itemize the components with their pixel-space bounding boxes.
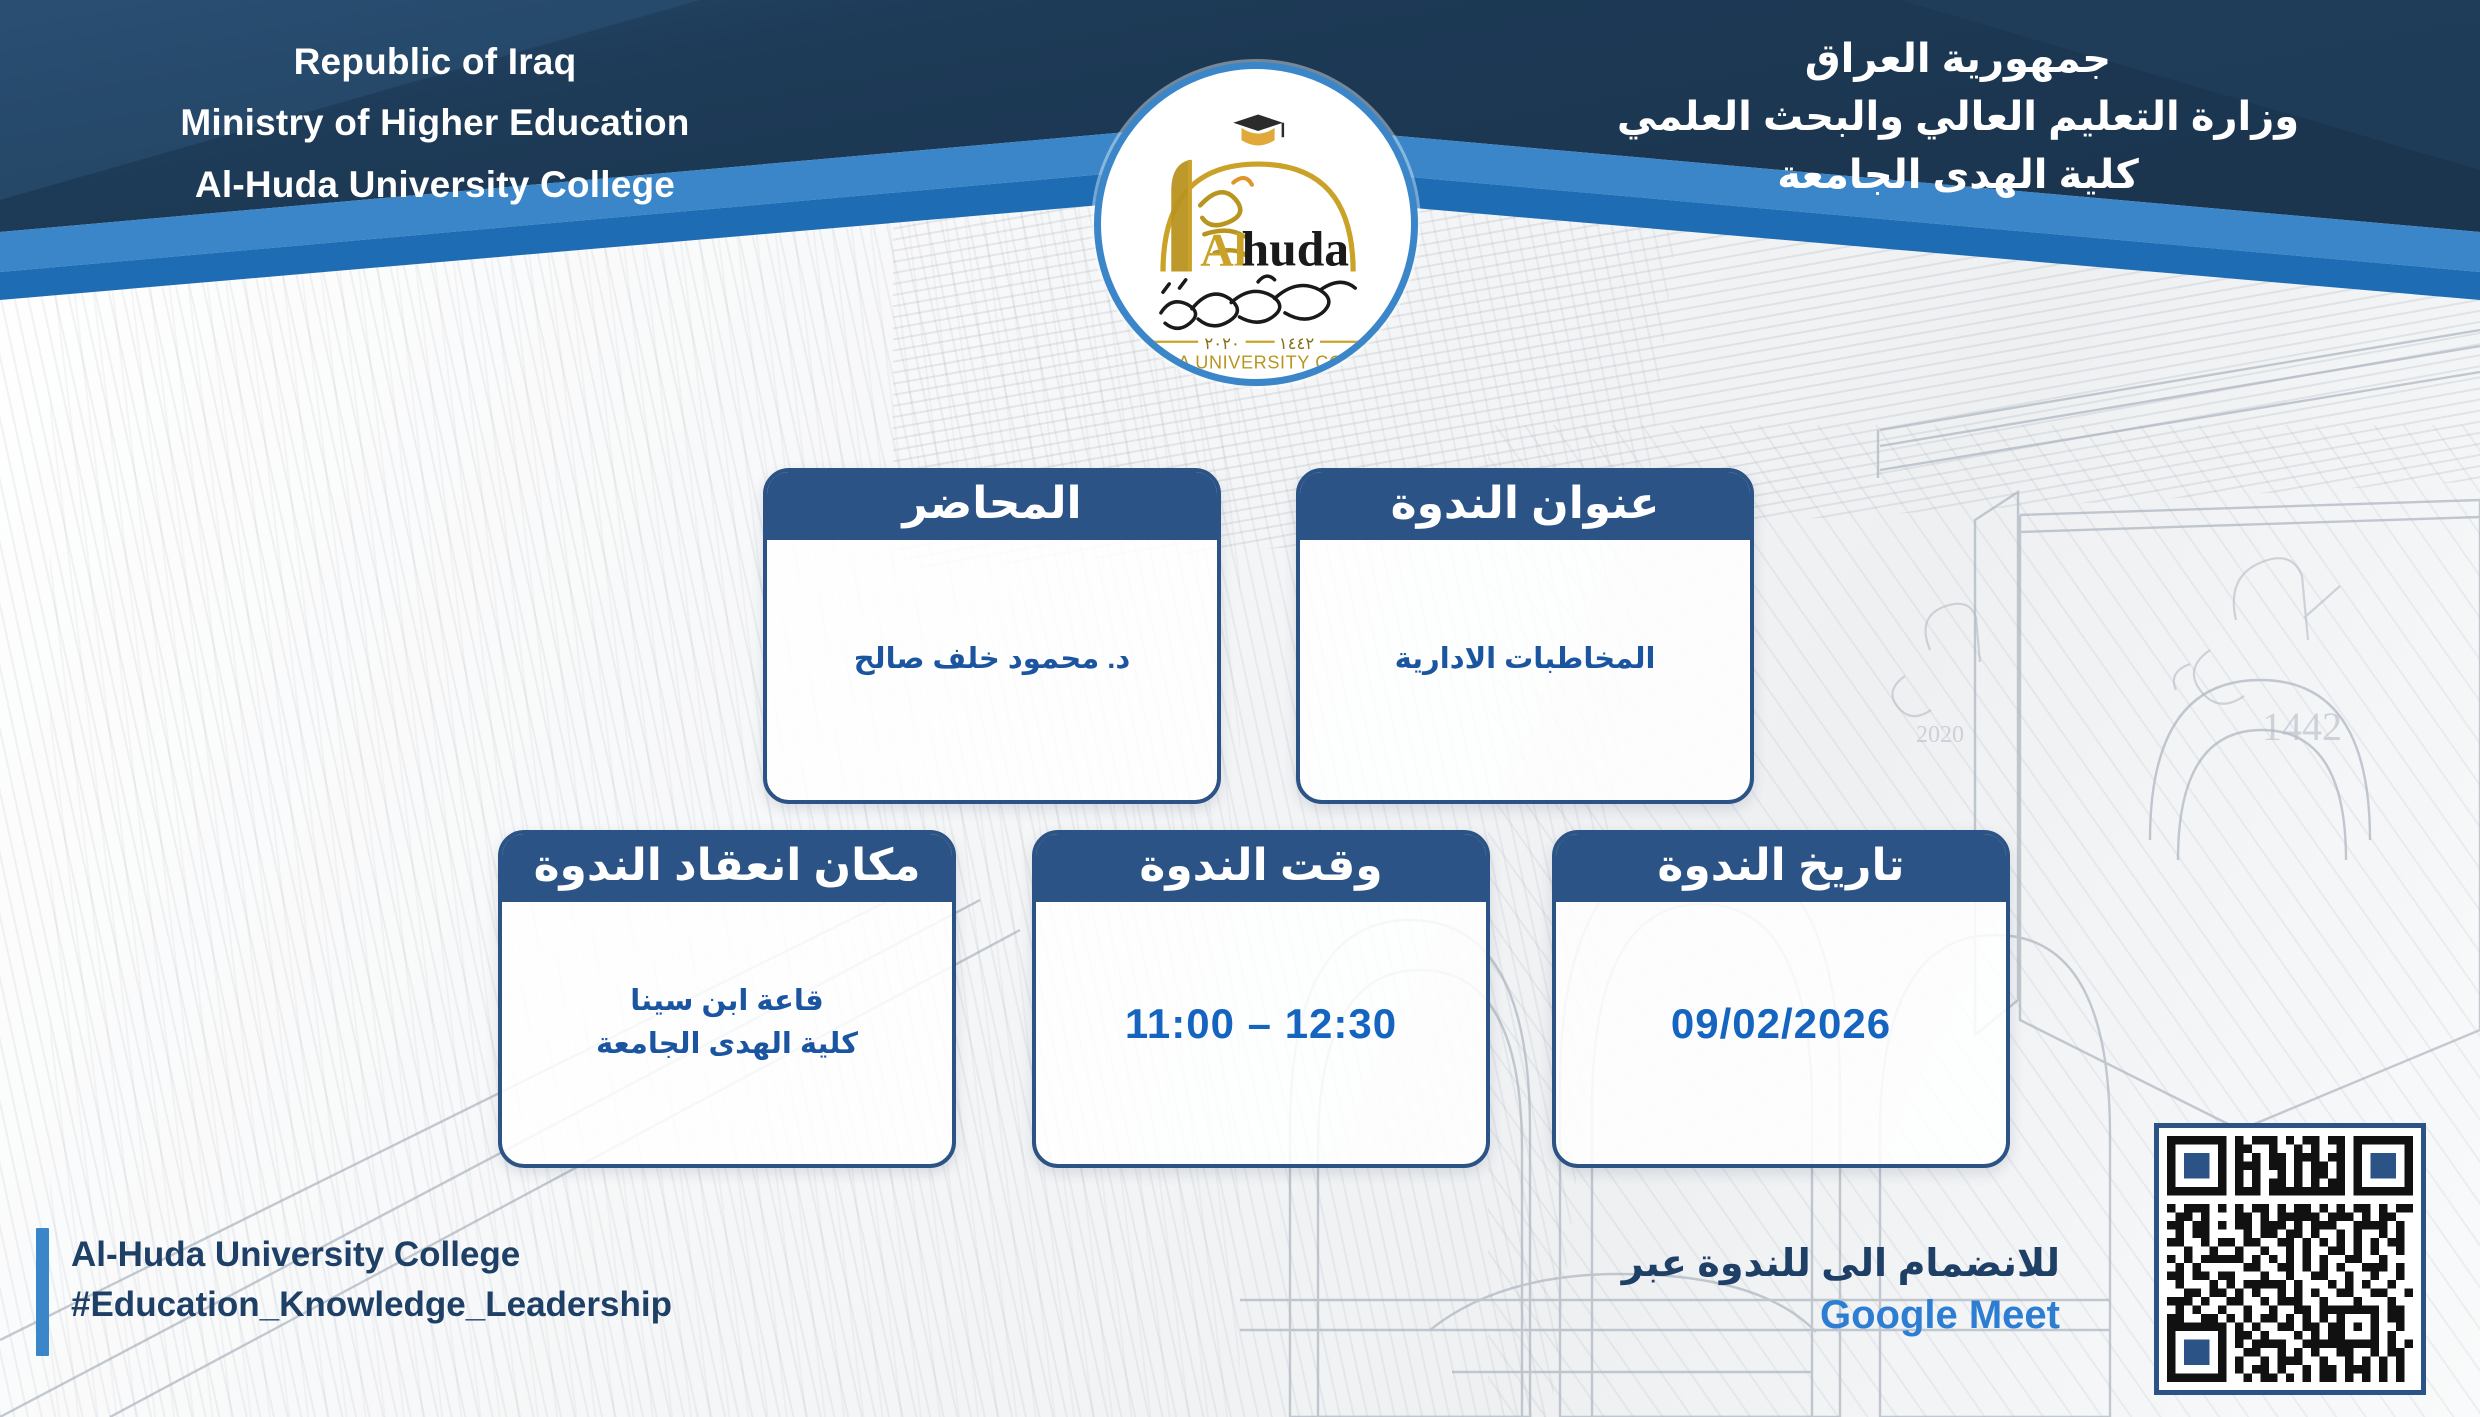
info-card-lecturer-title: المحاضر bbox=[767, 472, 1217, 540]
info-card-time-title: وقت الندوة bbox=[1036, 834, 1486, 902]
logo-wordmark-huda: huda bbox=[1242, 221, 1350, 276]
info-card-date-title: تاريخ الندوة bbox=[1556, 834, 2006, 902]
logo-arabic-calligraphy bbox=[1161, 276, 1355, 328]
info-card-lecturer-value: د. محمود خلف صالح bbox=[767, 540, 1217, 800]
info-card-time: وقت الندوة 11:00 – 12:30 bbox=[1032, 830, 1490, 1168]
logo-dates-row: ٢٠٢٠ ١٤٤٢ bbox=[1146, 334, 1365, 353]
qr-code[interactable] bbox=[2154, 1123, 2426, 1395]
info-card-seminar-title: عنوان الندوة المخاطبات الادارية bbox=[1296, 468, 1754, 804]
info-card-seminar-title-label: عنوان الندوة bbox=[1300, 472, 1750, 540]
info-card-venue-value-line1: قاعة ابن سينا bbox=[630, 985, 823, 1017]
logo-wordmark-al: Al bbox=[1200, 225, 1247, 276]
info-card-venue: مكان انعقاد الندوة قاعة ابن سينا كلية ال… bbox=[498, 830, 956, 1168]
footer-college-name: Al-Huda University College bbox=[71, 1230, 672, 1280]
university-logo: Al huda ٢٠٢٠ ١٤٤٢ AL-HUDA UNIVERSITY COL bbox=[1094, 62, 1418, 386]
footer-accent-bar bbox=[36, 1228, 49, 1356]
join-arabic-text: للانضمام الى للندوة عبر bbox=[1622, 1243, 2060, 1287]
info-card-venue-value: قاعة ابن سينا كلية الهدى الجامعة bbox=[502, 902, 952, 1164]
footer-hashtag: #Education_Knowledge_Leadership bbox=[71, 1280, 672, 1330]
logo-year-gregorian: ٢٠٢٠ bbox=[1204, 334, 1239, 353]
info-card-date: تاريخ الندوة 09/02/2026 bbox=[1552, 830, 2010, 1168]
join-platform-label: Google Meet bbox=[1622, 1293, 2060, 1338]
info-card-time-value: 11:00 – 12:30 bbox=[1036, 902, 1486, 1164]
info-card-seminar-title-value: المخاطبات الادارية bbox=[1300, 540, 1750, 800]
svg-text:2020: 2020 bbox=[1916, 722, 1964, 748]
footer-text-block: Al-Huda University College #Education_Kn… bbox=[71, 1228, 672, 1356]
svg-text:1442: 1442 bbox=[2262, 704, 2342, 749]
graduation-cap-icon bbox=[1233, 114, 1283, 145]
info-card-venue-value-line2: كلية الهدى الجامعة bbox=[596, 1028, 858, 1060]
footer-branding: Al-Huda University College #Education_Kn… bbox=[36, 1228, 672, 1356]
info-card-lecturer: المحاضر د. محمود خلف صالح bbox=[763, 468, 1221, 804]
poster-root: 1442 2020 bbox=[0, 0, 2480, 1417]
info-card-date-value: 09/02/2026 bbox=[1556, 902, 2006, 1164]
logo-year-hijri: ١٤٤٢ bbox=[1279, 334, 1315, 353]
info-card-venue-title: مكان انعقاد الندوة bbox=[502, 834, 952, 902]
qr-code-matrix[interactable] bbox=[2167, 1136, 2413, 1382]
join-instructions: للانضمام الى للندوة عبر Google Meet bbox=[1622, 1243, 2060, 1338]
